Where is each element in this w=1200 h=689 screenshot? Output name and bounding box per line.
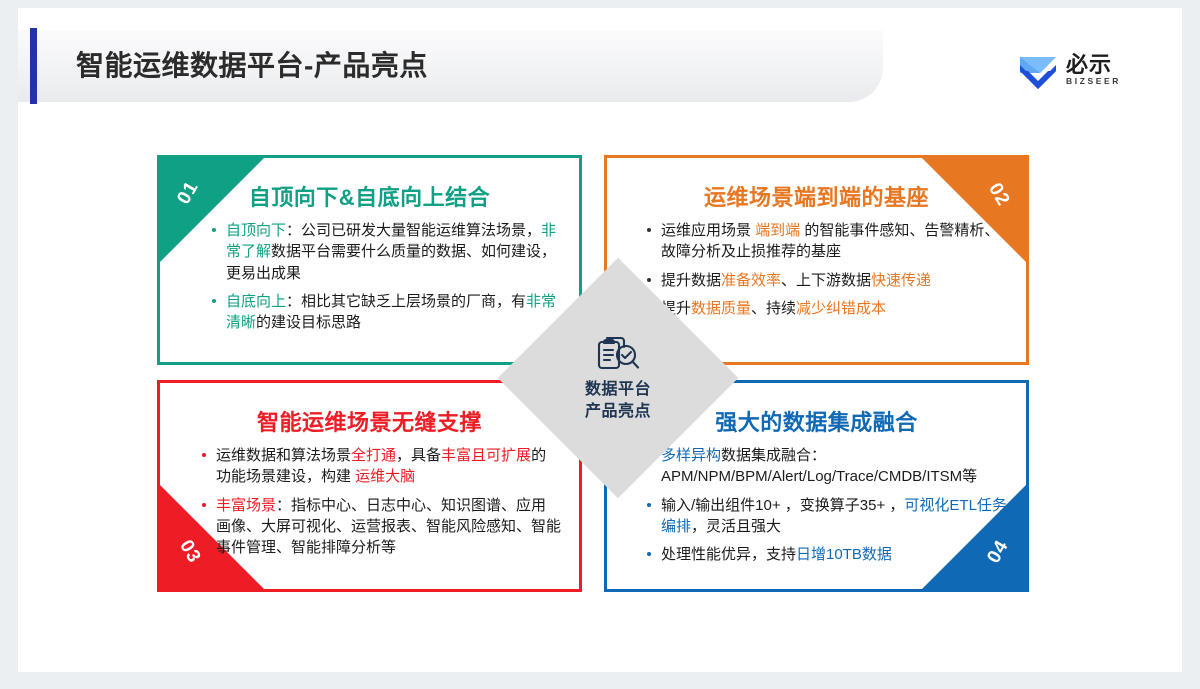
bullet-text: 处理性能优异，支持 <box>661 546 796 563</box>
bullet-highlight-text: 快速传递 <box>871 272 931 289</box>
logo-wordmark: 必示 BIZSEER <box>1066 53 1121 86</box>
bullet-item: 运维应用场景 端到端 的智能事件感知、告警精析、故障分析及止损推荐的基座 <box>645 220 1004 263</box>
bullet-text: ：相比其它缺乏上层场景的厂商，有 <box>286 293 526 310</box>
bullet-text: ，具备 <box>396 447 441 464</box>
bullet-text: 、上下游数据 <box>781 272 871 289</box>
slide-canvas: 智能运维数据平台-产品亮点 必示 BIZSEER 01 自顶向下&自底向上结合 … <box>18 8 1182 672</box>
bullet-text: 的建设目标思路 <box>256 314 361 331</box>
bullet-item: 运维数据和算法场景全打通，具备丰富且可扩展的功能场景建设，构建 运维大脑 <box>200 445 561 488</box>
card-title-02: 运维场景端到端的基座 <box>607 180 1026 212</box>
clipboard-search-check-icon <box>594 334 642 376</box>
bullet-highlight-text: 全打通 <box>351 447 396 464</box>
card-bullets-03: 运维数据和算法场景全打通，具备丰富且可扩展的功能场景建设，构建 运维大脑丰富场景… <box>200 445 561 565</box>
card-title-03: 智能运维场景无缝支撑 <box>160 405 579 437</box>
bullet-highlight-text: 自顶向下 <box>226 222 286 239</box>
brand-logo: 必示 BIZSEER <box>1018 46 1158 94</box>
card-bullets-01: 自顶向下：公司已研发大量智能运维算法场景，非常了解数据平台需要什么质量的数据、如… <box>210 220 557 340</box>
page-title: 智能运维数据平台-产品亮点 <box>76 44 428 84</box>
bullet-highlight-text: 丰富且可扩展 <box>441 447 531 464</box>
bullet-highlight-text: 减少纠错成本 <box>796 300 886 317</box>
bullet-highlight-text: 准备效率 <box>721 272 781 289</box>
bullet-item: 丰富场景：指标中心、日志中心、知识图谱、应用画像、大屏可视化、运营报表、智能风险… <box>200 495 561 559</box>
bullet-item: 处理性能优异，支持日增10TB数据 <box>645 544 1008 565</box>
bullet-highlight-text: 丰富场景 <box>216 497 276 514</box>
bullet-item: 提升数据准备效率、上下游数据快速传递 <box>645 270 1004 291</box>
bullet-text: 运维应用场景 <box>661 222 755 239</box>
center-label-line2: 产品亮点 <box>585 403 651 422</box>
highlight-card-03[interactable]: 03 智能运维场景无缝支撑 运维数据和算法场景全打通，具备丰富且可扩展的功能场景… <box>157 380 582 592</box>
card-title-01: 自顶向下&自底向上结合 <box>160 180 579 212</box>
bullet-text: 运维数据和算法场景 <box>216 447 351 464</box>
logo-en-text: BIZSEER <box>1066 76 1121 86</box>
bullet-highlight-text: 端到端 <box>755 222 800 239</box>
highlight-card-01[interactable]: 01 自顶向下&自底向上结合 自顶向下：公司已研发大量智能运维算法场景，非常了解… <box>157 155 582 365</box>
bullet-item: 输入/输出组件10+ ，变换算子35+ ，可视化ETL任务编排，灵活且强大 <box>645 495 1008 538</box>
bullet-item: 自顶向下：公司已研发大量智能运维算法场景，非常了解数据平台需要什么质量的数据、如… <box>210 220 557 284</box>
card-bullets-04: 多样异构数据集成融合：APM/NPM/BPM/Alert/Log/Trace/C… <box>645 445 1008 572</box>
bullet-highlight-text: 自底向上 <box>226 293 286 310</box>
bullet-item: 自底向上：相比其它缺乏上层场景的厂商，有非常清晰的建设目标思路 <box>210 291 557 334</box>
bullet-highlight-text: 日增10TB数据 <box>796 546 892 563</box>
center-diamond-content: 数据平台 产品亮点 <box>533 293 703 463</box>
bizseer-checkmark-icon <box>1018 51 1058 89</box>
bullet-text: ，灵活且强大 <box>691 518 781 535</box>
bullet-text: 提升数据 <box>661 272 721 289</box>
bullet-text: 输入/输出组件10+ ，变换算子35+ ， <box>661 497 904 514</box>
header-accent-bar <box>30 28 37 104</box>
bullet-highlight-text: 运维大脑 <box>355 468 415 485</box>
logo-cn-text: 必示 <box>1066 53 1112 76</box>
bullet-text: ：公司已研发大量智能运维算法场景， <box>286 222 541 239</box>
bullet-text: 数据平台需要什么质量的数据、如何建设，更易出成果 <box>226 243 556 281</box>
bullet-text: 、持续 <box>751 300 796 317</box>
center-label-line1: 数据平台 <box>585 381 651 400</box>
